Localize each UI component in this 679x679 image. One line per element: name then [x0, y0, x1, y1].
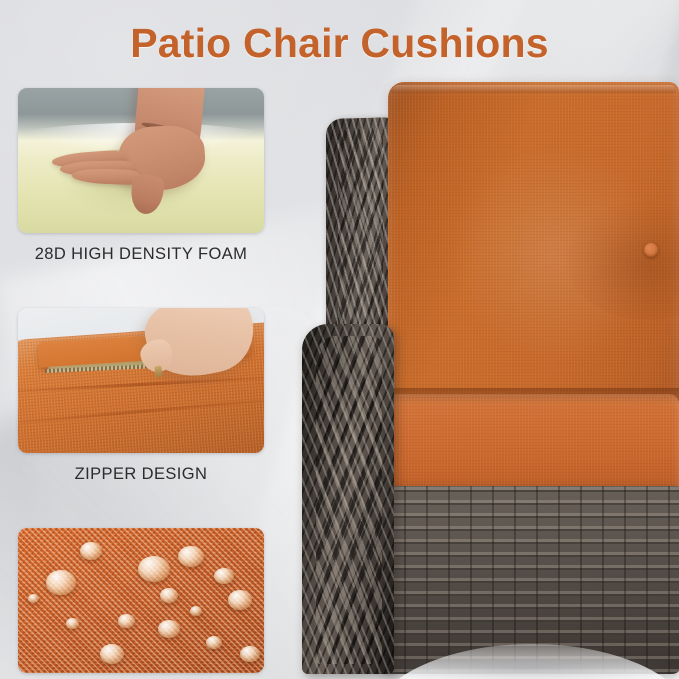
product-feature-poster: Patio Chair Cushions 28D HIGH DENSITY FO… — [0, 0, 679, 679]
zipper-pull-icon — [154, 366, 162, 378]
feature-item-foam: 28D HIGH DENSITY FOAM — [18, 88, 264, 264]
feature-caption: ZIPPER DESIGN — [18, 465, 264, 484]
water-droplet — [100, 644, 124, 664]
orange-seat-cushion — [372, 394, 679, 500]
water-droplet — [160, 588, 178, 603]
cushion-fabric-texture — [372, 394, 679, 500]
wicker-chair-base — [382, 486, 679, 674]
chair-ground-shadow — [366, 653, 679, 679]
water-droplet — [158, 620, 180, 638]
water-droplet — [28, 594, 39, 603]
wicker-lattice-texture — [316, 336, 382, 664]
page-title: Patio Chair Cushions — [0, 20, 679, 67]
feature-item-zipper: ZIPPER DESIGN — [18, 308, 264, 484]
water-droplet — [66, 618, 79, 629]
feature-item-fabric: EASY CARE FABRIC — [18, 528, 264, 679]
water-droplet — [138, 556, 170, 582]
product-photo-patio-chair — [296, 74, 679, 679]
feature-list: 28D HIGH DENSITY FOAM ZIPPER DESIGN — [18, 88, 264, 679]
cushion-tufted-button — [644, 243, 658, 257]
feature-thumbnail-fabric — [18, 528, 264, 673]
water-droplet — [46, 570, 76, 595]
water-droplet — [206, 636, 222, 649]
water-droplet — [190, 606, 202, 616]
water-droplet — [80, 542, 102, 560]
cushion-piping — [391, 85, 676, 93]
feature-caption: 28D HIGH DENSITY FOAM — [18, 245, 264, 264]
feature-thumbnail-foam — [18, 88, 264, 233]
feature-thumbnail-zipper — [18, 308, 264, 453]
wicker-chair-armrest — [302, 324, 394, 674]
water-droplet — [118, 614, 135, 628]
water-droplet — [228, 590, 252, 610]
